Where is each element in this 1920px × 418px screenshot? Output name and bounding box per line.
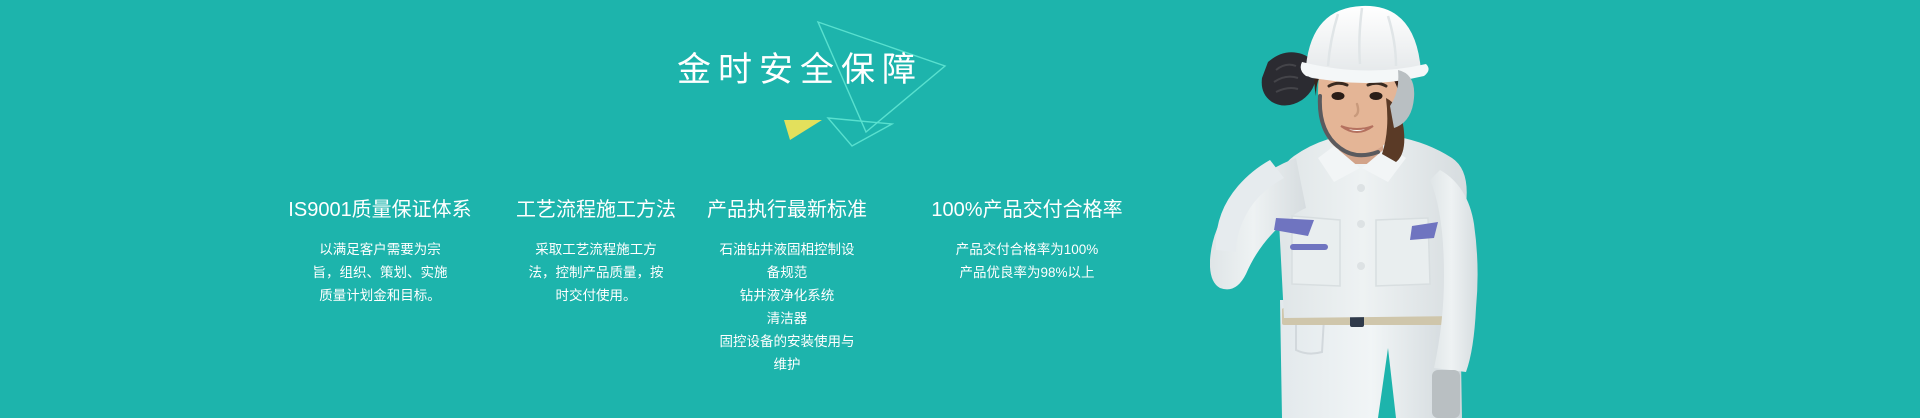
worker-eye-left — [1332, 92, 1345, 100]
feature-body-line: 法，控制产品质量，按 — [520, 261, 672, 284]
feature-item-delivery-pass-rate: 100%产品交付合格率 产品交付合格率为100% 产品优良率为98%以上 — [887, 196, 1167, 284]
feature-item-quality-system: IS9001质量保证体系 以满足客户需要为宗 旨，组织、策划、实施 质量计划金和… — [255, 196, 505, 307]
feature-item-latest-standard: 产品执行最新标准 石油钻井液固相控制设 备规范 钻井液净化系统 清洁器 固控设备… — [687, 196, 887, 376]
feature-body-line: 质量计划金和目标。 — [292, 284, 468, 307]
feature-body-line: 以满足客户需要为宗 — [292, 238, 468, 261]
feature-body-line: 固控设备的安装使用与 — [701, 330, 873, 353]
worker-button — [1357, 262, 1365, 270]
feature-list: IS9001质量保证体系 以满足客户需要为宗 旨，组织、策划、实施 质量计划金和… — [255, 196, 1185, 376]
feature-title: IS9001质量保证体系 — [255, 196, 505, 224]
feature-title: 100%产品交付合格率 — [887, 196, 1167, 224]
feature-body: 产品交付合格率为100% 产品优良率为98%以上 — [912, 238, 1142, 284]
feature-body-line: 旨，组织、策划、实施 — [292, 261, 468, 284]
feature-body-line: 清洁器 — [701, 307, 873, 330]
feature-body-line: 时交付使用。 — [520, 284, 672, 307]
worker-eye-right — [1370, 92, 1383, 100]
feature-body-line: 产品优良率为98%以上 — [912, 261, 1142, 284]
feature-title: 工艺流程施工方法 — [505, 196, 687, 224]
worker-left-cuff — [1432, 370, 1460, 418]
small-outline-triangle-icon — [828, 118, 892, 146]
page-title: 金时安全保障 — [600, 48, 1000, 92]
feature-body-line: 产品交付合格率为100% — [912, 238, 1142, 261]
worker-button — [1357, 184, 1365, 192]
feature-body: 采取工艺流程施工方 法，控制产品质量，按 时交付使用。 — [520, 238, 672, 307]
feature-body: 石油钻井液固相控制设 备规范 钻井液净化系统 清洁器 固控设备的安装使用与 维护 — [701, 238, 873, 376]
worker-accent-bar-left — [1290, 244, 1328, 250]
feature-body-line: 维护 — [701, 353, 873, 376]
feature-body-line: 石油钻井液固相控制设 — [701, 238, 873, 261]
yellow-triangle-icon — [784, 120, 822, 140]
feature-body-line: 钻井液净化系统 — [701, 284, 873, 307]
feature-body: 以满足客户需要为宗 旨，组织、策划、实施 质量计划金和目标。 — [292, 238, 468, 307]
feature-item-process-method: 工艺流程施工方法 采取工艺流程施工方 法，控制产品质量，按 时交付使用。 — [505, 196, 687, 307]
safety-guarantee-banner: 金时安全保障 IS9001质量保证体系 以满足客户需要为宗 旨，组织、策划、实施… — [0, 0, 1920, 418]
worker-button — [1357, 220, 1365, 228]
feature-title: 产品执行最新标准 — [687, 196, 887, 224]
feature-body-line: 备规范 — [701, 261, 873, 284]
feature-body-line: 采取工艺流程施工方 — [520, 238, 672, 261]
worker-photo — [1210, 0, 1540, 418]
